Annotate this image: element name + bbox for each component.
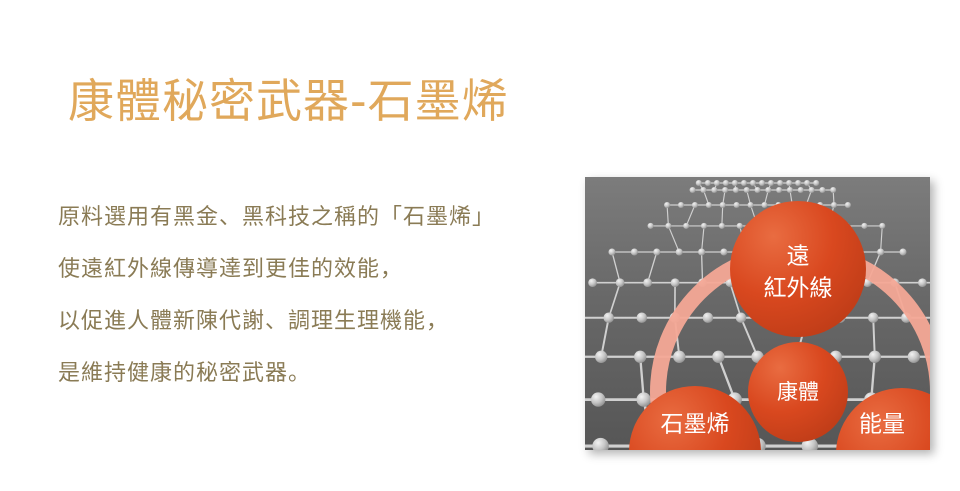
node-label-health-body: 康體	[777, 380, 819, 404]
node-label-far-infrared-line2: 紅外線	[764, 276, 833, 302]
body-line: 是維持健康的秘密武器。	[58, 348, 578, 400]
node-health-body: 康體	[748, 342, 848, 442]
body-line: 以促進人體新陳代謝、調理生理機能，	[58, 296, 578, 348]
graphene-lattice-svg: 遠 紅外線 康體 石墨烯 能量	[585, 177, 930, 450]
body-line: 使遠紅外線傳導達到更佳的效能，	[58, 244, 578, 296]
graphene-diagram-image: 遠 紅外線 康體 石墨烯 能量	[585, 177, 930, 450]
body-paragraph: 原料選用有黑金、黑科技之稱的「石墨烯」 使遠紅外線傳導達到更佳的效能， 以促進人…	[58, 192, 578, 400]
page-title: 康體秘密武器-石墨烯	[68, 72, 509, 130]
node-label-far-infrared-line1: 遠	[787, 244, 810, 270]
node-far-infrared: 遠 紅外線	[730, 201, 866, 337]
node-label-energy: 能量	[859, 412, 905, 438]
node-label-graphene: 石墨烯	[661, 412, 730, 438]
body-line: 原料選用有黑金、黑科技之稱的「石墨烯」	[58, 192, 578, 244]
